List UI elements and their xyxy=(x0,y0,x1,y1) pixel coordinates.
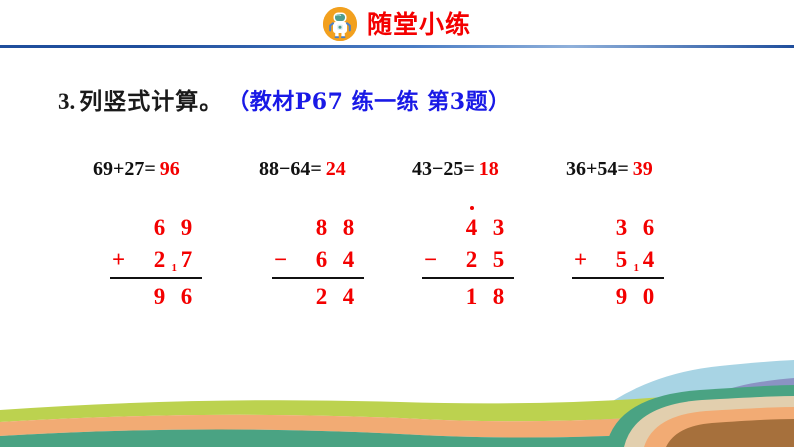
deco-band-yellow-green xyxy=(0,386,794,422)
digit: 21 xyxy=(148,247,171,273)
digit: 4 xyxy=(637,247,660,273)
vertical-result-row: 24 xyxy=(258,281,378,313)
digit: 0 xyxy=(637,284,660,310)
digit: 4 xyxy=(337,247,360,273)
operator-symbol: + xyxy=(112,244,125,276)
vertical-bottom-row: + 514 xyxy=(558,244,678,276)
borrow-dot-icon xyxy=(470,206,474,210)
header-content: 随堂小练 xyxy=(0,6,794,42)
vertical-result-row: 18 xyxy=(408,281,528,313)
operator-symbol: − xyxy=(274,244,287,276)
digit: 8 xyxy=(310,215,333,241)
question-line: 3. 列竖式计算。 （教材P67 练一练 第3题） xyxy=(58,82,511,116)
vertical-top-row: 69 xyxy=(96,212,216,244)
bottom-decoration xyxy=(0,352,794,447)
vertical-top-row: 88 xyxy=(258,212,378,244)
digit: 6 xyxy=(148,215,171,241)
vertical-bottom-row: − 25 xyxy=(408,244,528,276)
digit: 6 xyxy=(310,247,333,273)
header-title: 随堂小练 xyxy=(367,12,471,37)
vertical-result-row: 90 xyxy=(558,281,678,313)
digit: 8 xyxy=(337,215,360,241)
vertical-rule xyxy=(422,277,514,279)
digit: 9 xyxy=(175,215,198,241)
vertical-calculation: 88 − 64 24 xyxy=(258,212,378,313)
equation-item: 36+54=39 xyxy=(566,158,653,181)
equation-answer: 24 xyxy=(326,158,346,180)
slide-header: 随堂小练 xyxy=(0,0,794,50)
vertical-rule xyxy=(572,277,664,279)
equations-row: 69+27=96 88−64=24 43−25=18 36+54=39 xyxy=(0,158,794,188)
digit: 5 xyxy=(487,247,510,273)
digit: 51 xyxy=(610,247,633,273)
equation-item: 69+27=96 xyxy=(93,158,180,181)
digit: 6 xyxy=(175,284,198,310)
digit: 2 xyxy=(310,284,333,310)
question-reference: （教材P67 练一练 第3题） xyxy=(227,89,510,115)
header-divider xyxy=(0,45,794,48)
vertical-rule xyxy=(272,277,364,279)
equation-answer: 39 xyxy=(633,158,653,180)
digit: 4 xyxy=(337,284,360,310)
vertical-top-row: 36 xyxy=(558,212,678,244)
vertical-calculations: 69 + 217 96 88 − 64 24 43 − 25 xyxy=(0,212,794,322)
deco-ring-teal xyxy=(606,385,794,447)
digit: 9 xyxy=(610,284,633,310)
vertical-calculation: 43 − 25 18 xyxy=(408,212,528,313)
equation-answer: 96 xyxy=(160,158,180,180)
equation-item: 88−64=24 xyxy=(259,158,346,181)
equation-expression: 88−64= xyxy=(259,158,322,180)
equation-expression: 36+54= xyxy=(566,158,629,180)
vertical-bottom-row: − 64 xyxy=(258,244,378,276)
digit: 6 xyxy=(637,215,660,241)
digit: 7 xyxy=(175,247,198,273)
vertical-calculation: 69 + 217 96 xyxy=(96,212,216,313)
digit: 2 xyxy=(460,247,483,273)
digit: 8 xyxy=(487,284,510,310)
vertical-rule xyxy=(110,277,202,279)
equation-answer: 18 xyxy=(479,158,499,180)
question-number: 3. xyxy=(58,89,75,114)
vertical-calculation: 36 + 514 90 xyxy=(558,212,678,313)
equation-item: 43−25=18 xyxy=(412,158,499,181)
digit: 9 xyxy=(148,284,171,310)
deco-band-periwinkle xyxy=(640,378,794,447)
deco-ring-brown xyxy=(666,419,794,447)
deco-ring-tan xyxy=(624,396,794,447)
equation-expression: 69+27= xyxy=(93,158,156,180)
deco-ring-orange xyxy=(644,407,794,447)
digit: 3 xyxy=(610,215,633,241)
vertical-result-row: 96 xyxy=(96,281,216,313)
operator-symbol: + xyxy=(574,244,587,276)
vertical-top-row: 43 xyxy=(408,212,528,244)
deco-band-orange xyxy=(0,404,794,438)
digit: 4 xyxy=(460,215,483,241)
astronaut-icon xyxy=(323,7,357,41)
deco-band-light-blue xyxy=(560,360,794,447)
operator-symbol: − xyxy=(424,244,437,276)
question-text: 列竖式计算。 xyxy=(79,88,223,115)
digit: 1 xyxy=(460,284,483,310)
digit: 3 xyxy=(487,215,510,241)
deco-band-teal xyxy=(0,422,794,447)
vertical-bottom-row: + 217 xyxy=(96,244,216,276)
deco-band-cream xyxy=(660,394,794,447)
equation-expression: 43−25= xyxy=(412,158,475,180)
